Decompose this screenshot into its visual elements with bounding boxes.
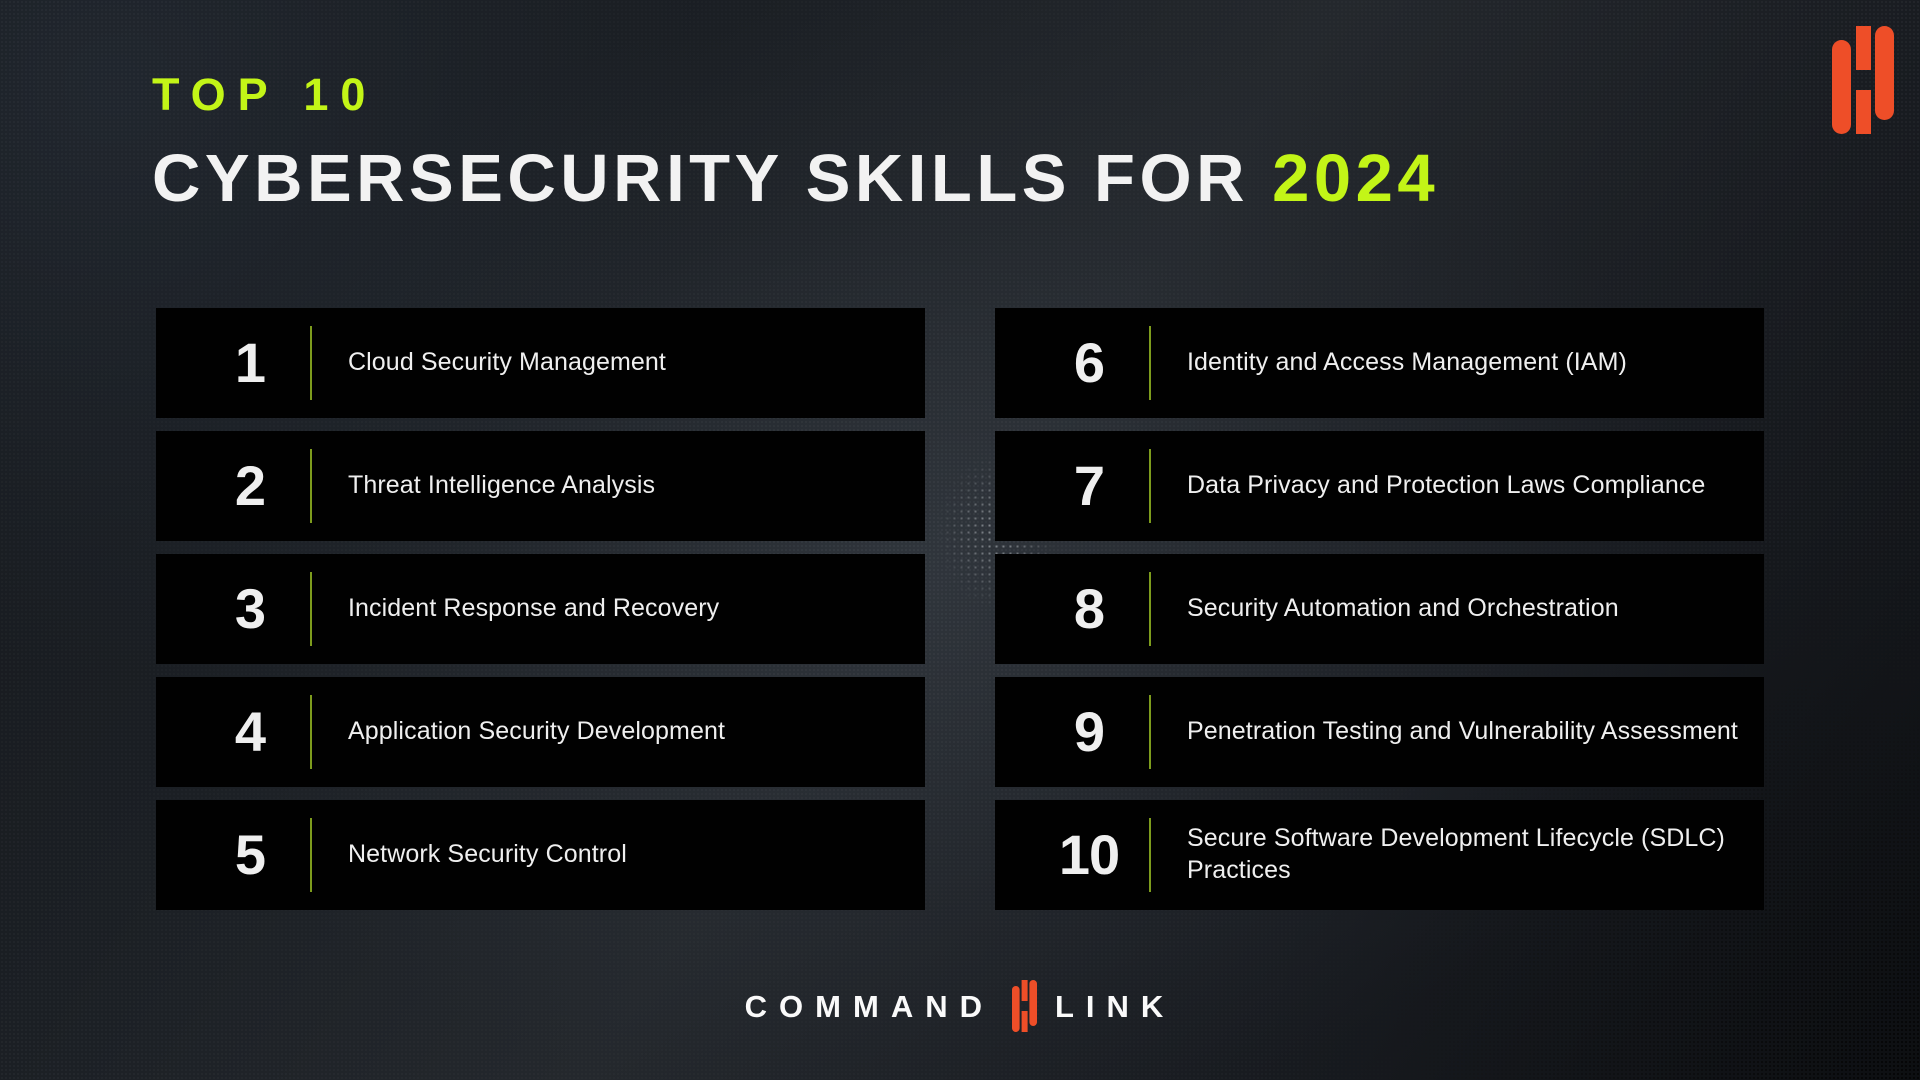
- skill-rank: 7: [1029, 458, 1149, 514]
- skill-label: Secure Software Development Lifecycle (S…: [1187, 823, 1764, 887]
- skill-label: Security Automation and Orchestration: [1187, 593, 1635, 625]
- skill-rank: 8: [1029, 581, 1149, 637]
- rank-divider: [1149, 572, 1151, 646]
- skill-item-1[interactable]: 1 Cloud Security Management: [156, 308, 925, 418]
- skill-label: Data Privacy and Protection Laws Complia…: [1187, 470, 1721, 502]
- commandlink-h-logo-icon: [1832, 26, 1894, 134]
- headline-main: CYBERSECURITY SKILLS FOR: [152, 141, 1249, 216]
- rank-divider: [310, 326, 312, 400]
- skill-item-2[interactable]: 2 Threat Intelligence Analysis: [156, 431, 925, 541]
- skill-rank: 5: [190, 827, 310, 883]
- skills-column-right: 6 Identity and Access Management (IAM) 7…: [995, 308, 1764, 910]
- skill-rank: 9: [1029, 704, 1149, 760]
- rank-divider: [310, 449, 312, 523]
- footer-logo: COMMAND LINK: [0, 980, 1920, 1032]
- skill-item-5[interactable]: 5 Network Security Control: [156, 800, 925, 910]
- skill-item-7[interactable]: 7 Data Privacy and Protection Laws Compl…: [995, 431, 1764, 541]
- skill-label: Threat Intelligence Analysis: [348, 470, 671, 502]
- rank-divider: [310, 572, 312, 646]
- footer-word-command: COMMAND: [745, 991, 994, 1022]
- skills-column-left: 1 Cloud Security Management 2 Threat Int…: [156, 308, 925, 910]
- skill-item-9[interactable]: 9 Penetration Testing and Vulnerability …: [995, 677, 1764, 787]
- rank-divider: [310, 695, 312, 769]
- rank-divider: [1149, 695, 1151, 769]
- infographic-canvas: TOP 10 CYBERSECURITY SKILLS FOR 2024 1 C…: [0, 0, 1920, 1080]
- skill-label: Application Security Development: [348, 716, 741, 748]
- skill-rank: 10: [1029, 827, 1149, 883]
- skill-item-3[interactable]: 3 Incident Response and Recovery: [156, 554, 925, 664]
- commandlink-h-logo-icon: [1012, 980, 1037, 1032]
- headline-year: 2024: [1272, 141, 1439, 216]
- rank-divider: [1149, 818, 1151, 892]
- skill-label: Network Security Control: [348, 839, 643, 871]
- heading-block: TOP 10 CYBERSECURITY SKILLS FOR 2024: [152, 72, 1439, 212]
- skill-item-10[interactable]: 10 Secure Software Development Lifecycle…: [995, 800, 1764, 910]
- page-title: CYBERSECURITY SKILLS FOR 2024: [152, 145, 1439, 212]
- skill-item-4[interactable]: 4 Application Security Development: [156, 677, 925, 787]
- skill-rank: 3: [190, 581, 310, 637]
- skill-item-8[interactable]: 8 Security Automation and Orchestration: [995, 554, 1764, 664]
- skill-rank: 2: [190, 458, 310, 514]
- rank-divider: [1149, 449, 1151, 523]
- skill-rank: 1: [190, 335, 310, 391]
- skill-rank: 4: [190, 704, 310, 760]
- skill-item-6[interactable]: 6 Identity and Access Management (IAM): [995, 308, 1764, 418]
- skill-label: Identity and Access Management (IAM): [1187, 347, 1643, 379]
- kicker-text: TOP 10: [152, 72, 1439, 117]
- skill-rank: 6: [1029, 335, 1149, 391]
- rank-divider: [1149, 326, 1151, 400]
- skill-label: Penetration Testing and Vulnerability As…: [1187, 716, 1754, 748]
- skill-label: Cloud Security Management: [348, 347, 682, 379]
- rank-divider: [310, 818, 312, 892]
- skills-list: 1 Cloud Security Management 2 Threat Int…: [156, 308, 1764, 910]
- footer-word-link: LINK: [1055, 991, 1175, 1022]
- skill-label: Incident Response and Recovery: [348, 593, 735, 625]
